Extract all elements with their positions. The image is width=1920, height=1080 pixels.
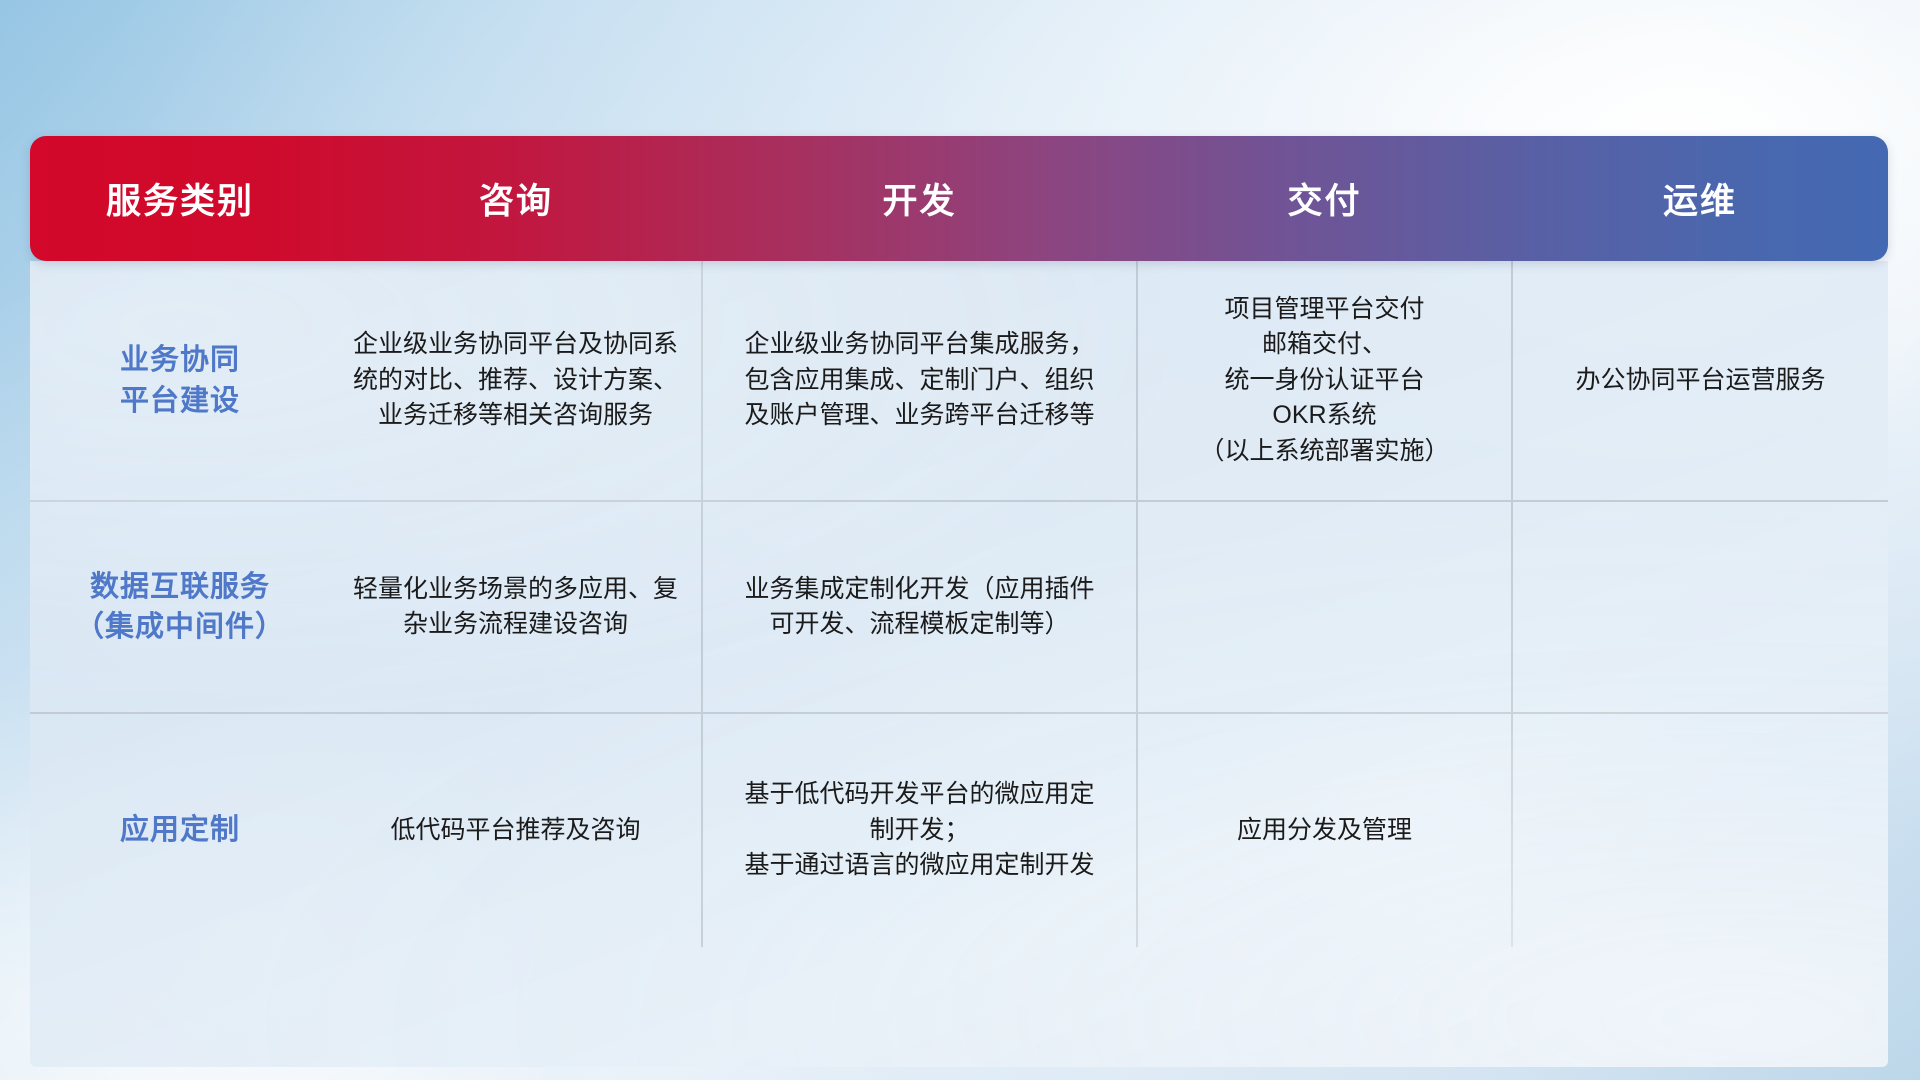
slide-canvas: 服务类别 咨询 开发 交付 运维 业务协同 平台建设 企业级业务协同平台及协同系… xyxy=(0,0,1920,1080)
cell-consulting: 低代码平台推荐及咨询 xyxy=(330,713,702,947)
row-category-label: 数据互联服务 （集成中间件） xyxy=(30,501,330,713)
table-body: 业务协同 平台建设 企业级业务协同平台及协同系 统的对比、推荐、设计方案、 业务… xyxy=(30,261,1888,947)
row-category-label: 应用定制 xyxy=(30,713,330,947)
table-row: 数据互联服务 （集成中间件） 轻量化业务场景的多应用、复 杂业务流程建设咨询 业… xyxy=(30,501,1888,713)
service-matrix-table: 服务类别 咨询 开发 交付 运维 业务协同 平台建设 企业级业务协同平台及协同系… xyxy=(30,136,1888,947)
column-header-operations[interactable]: 运维 xyxy=(1512,136,1888,261)
cell-delivery: 项目管理平台交付 邮箱交付、 统一身份认证平台 OKR系统 （以上系统部署实施） xyxy=(1137,261,1512,501)
cell-delivery: 应用分发及管理 xyxy=(1137,713,1512,947)
cell-operations: 办公协同平台运营服务 xyxy=(1512,261,1888,501)
header-row: 服务类别 咨询 开发 交付 运维 xyxy=(30,136,1888,261)
column-header-delivery[interactable]: 交付 xyxy=(1137,136,1512,261)
table-row: 应用定制 低代码平台推荐及咨询 基于低代码开发平台的微应用定 制开发； 基于通过… xyxy=(30,713,1888,947)
cell-operations xyxy=(1512,501,1888,713)
column-header-development[interactable]: 开发 xyxy=(702,136,1137,261)
column-header-category[interactable]: 服务类别 xyxy=(30,136,330,261)
table-row: 业务协同 平台建设 企业级业务协同平台及协同系 统的对比、推荐、设计方案、 业务… xyxy=(30,261,1888,501)
cell-operations xyxy=(1512,713,1888,947)
cell-consulting: 企业级业务协同平台及协同系 统的对比、推荐、设计方案、 业务迁移等相关咨询服务 xyxy=(330,261,702,501)
table-header: 服务类别 咨询 开发 交付 运维 xyxy=(30,136,1888,261)
row-category-label: 业务协同 平台建设 xyxy=(30,261,330,501)
cell-development: 业务集成定制化开发（应用插件 可开发、流程模板定制等） xyxy=(702,501,1137,713)
service-matrix: 服务类别 咨询 开发 交付 运维 业务协同 平台建设 企业级业务协同平台及协同系… xyxy=(30,136,1888,947)
column-header-consulting[interactable]: 咨询 xyxy=(330,136,702,261)
cell-delivery xyxy=(1137,501,1512,713)
cell-development: 企业级业务协同平台集成服务， 包含应用集成、定制门户、组织 及账户管理、业务跨平… xyxy=(702,261,1137,501)
cell-development: 基于低代码开发平台的微应用定 制开发； 基于通过语言的微应用定制开发 xyxy=(702,713,1137,947)
cell-consulting: 轻量化业务场景的多应用、复 杂业务流程建设咨询 xyxy=(330,501,702,713)
